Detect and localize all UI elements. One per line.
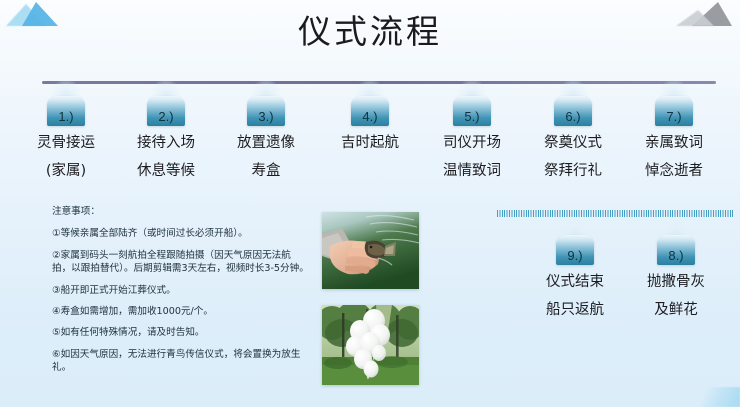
step-label-3-line1: 放置遗像: [218, 132, 314, 154]
bottom-right-wedge-icon: [680, 387, 740, 407]
step-number-4: 4.): [351, 110, 389, 124]
title-divider: [42, 81, 716, 84]
notes-item-4: ④寿盒如需增加，需加收1000元/个。: [52, 305, 310, 318]
step-badge-7[interactable]: 7.): [655, 96, 693, 126]
step-badge-2[interactable]: 2.): [147, 96, 185, 126]
step-label-6-line2: 祭拜行礼: [525, 160, 621, 182]
step-label-5-line2: 温情致词: [424, 160, 520, 182]
step-number-6: 6.): [554, 110, 592, 124]
step-number-5: 5.): [453, 110, 491, 124]
return-flow-divider: [497, 210, 733, 217]
step-label-8-line2: 及鲜花: [628, 299, 724, 321]
step-label-2-line1: 接待入场: [118, 132, 214, 154]
notes-item-3: ③船开即正式开始江葬仪式。: [52, 284, 310, 297]
step-label-7-line1: 亲属致词: [626, 132, 722, 154]
step-item-4[interactable]: 4.) 吉时起航: [322, 96, 418, 160]
step-label-5-line1: 司仪开场: [424, 132, 520, 154]
notes-item-5: ⑤如有任何特殊情况，请及时告知。: [52, 326, 310, 339]
step-number-7: 7.): [655, 110, 693, 124]
step-label-9-line1: 仪式结束: [527, 271, 623, 293]
step-label-7-line2: 悼念逝者: [626, 160, 722, 182]
step-label-2-line2: 休息等候: [118, 160, 214, 182]
page-title: 仪式流程: [0, 12, 740, 52]
step-item-2[interactable]: 2.) 接待入场 休息等候: [118, 96, 214, 182]
step-label-4-line1: 吉时起航: [322, 132, 418, 154]
step-number-2: 2.): [147, 110, 185, 124]
step-number-8: 8.): [657, 249, 695, 263]
step-badge-8[interactable]: 8.): [657, 235, 695, 265]
step-item-7[interactable]: 7.) 亲属致词 悼念逝者: [626, 96, 722, 182]
white-balloons-photo: [322, 305, 419, 385]
step-badge-9[interactable]: 9.): [556, 235, 594, 265]
step-item-3[interactable]: 3.) 放置遗像 寿盒: [218, 96, 314, 182]
step-label-8-line1: 抛撒骨灰: [628, 271, 724, 293]
white-balloons-illustration: [322, 305, 419, 385]
notes-item-2: ②家属到码头一刻航拍全程跟随拍摄（因天气原因无法航拍，以跟拍替代）。后期剪辑需3…: [52, 249, 310, 276]
step-item-1[interactable]: 1.) 灵骨接运 (家属): [18, 96, 114, 182]
step-number-3: 3.): [247, 110, 285, 124]
step-badge-1[interactable]: 1.): [47, 96, 85, 126]
notes-heading: 注意事项：: [52, 205, 310, 218]
step-badge-5[interactable]: 5.): [453, 96, 491, 126]
step-label-9-line2: 船只返航: [527, 299, 623, 321]
step-number-1: 1.): [47, 110, 85, 124]
step-badge-4[interactable]: 4.): [351, 96, 389, 126]
step-item-6[interactable]: 6.) 祭奠仪式 祭拜行礼: [525, 96, 621, 182]
step-item-5[interactable]: 5.) 司仪开场 温情致词: [424, 96, 520, 182]
step-item-8[interactable]: 8.) 抛撒骨灰 及鲜花: [628, 235, 724, 321]
step-badge-6[interactable]: 6.): [554, 96, 592, 126]
step-number-9: 9.): [556, 249, 594, 263]
step-label-1-line1: 灵骨接运: [18, 132, 114, 154]
fish-release-photo: [322, 212, 419, 289]
notes-item-6: ⑥如因天气原因，无法进行青鸟传信仪式，将会置换为放生礼。: [52, 348, 310, 375]
step-label-1-line2: (家属): [18, 160, 114, 182]
slide-canvas: 仪式流程 1.) 灵骨接运 (家属) 2.) 接待入场 休息等候 3.) 放置遗…: [0, 0, 740, 407]
step-label-3-line2: 寿盒: [218, 160, 314, 182]
step-badge-3[interactable]: 3.): [247, 96, 285, 126]
step-label-6-line1: 祭奠仪式: [525, 132, 621, 154]
fish-release-illustration: [322, 212, 419, 289]
notes-block: 注意事项： ①等候亲属全部陆齐（或时间过长必须开船）。 ②家属到码头一刻航拍全程…: [52, 205, 310, 383]
notes-item-1: ①等候亲属全部陆齐（或时间过长必须开船）。: [52, 227, 310, 240]
step-item-9[interactable]: 9.) 仪式结束 船只返航: [527, 235, 623, 321]
